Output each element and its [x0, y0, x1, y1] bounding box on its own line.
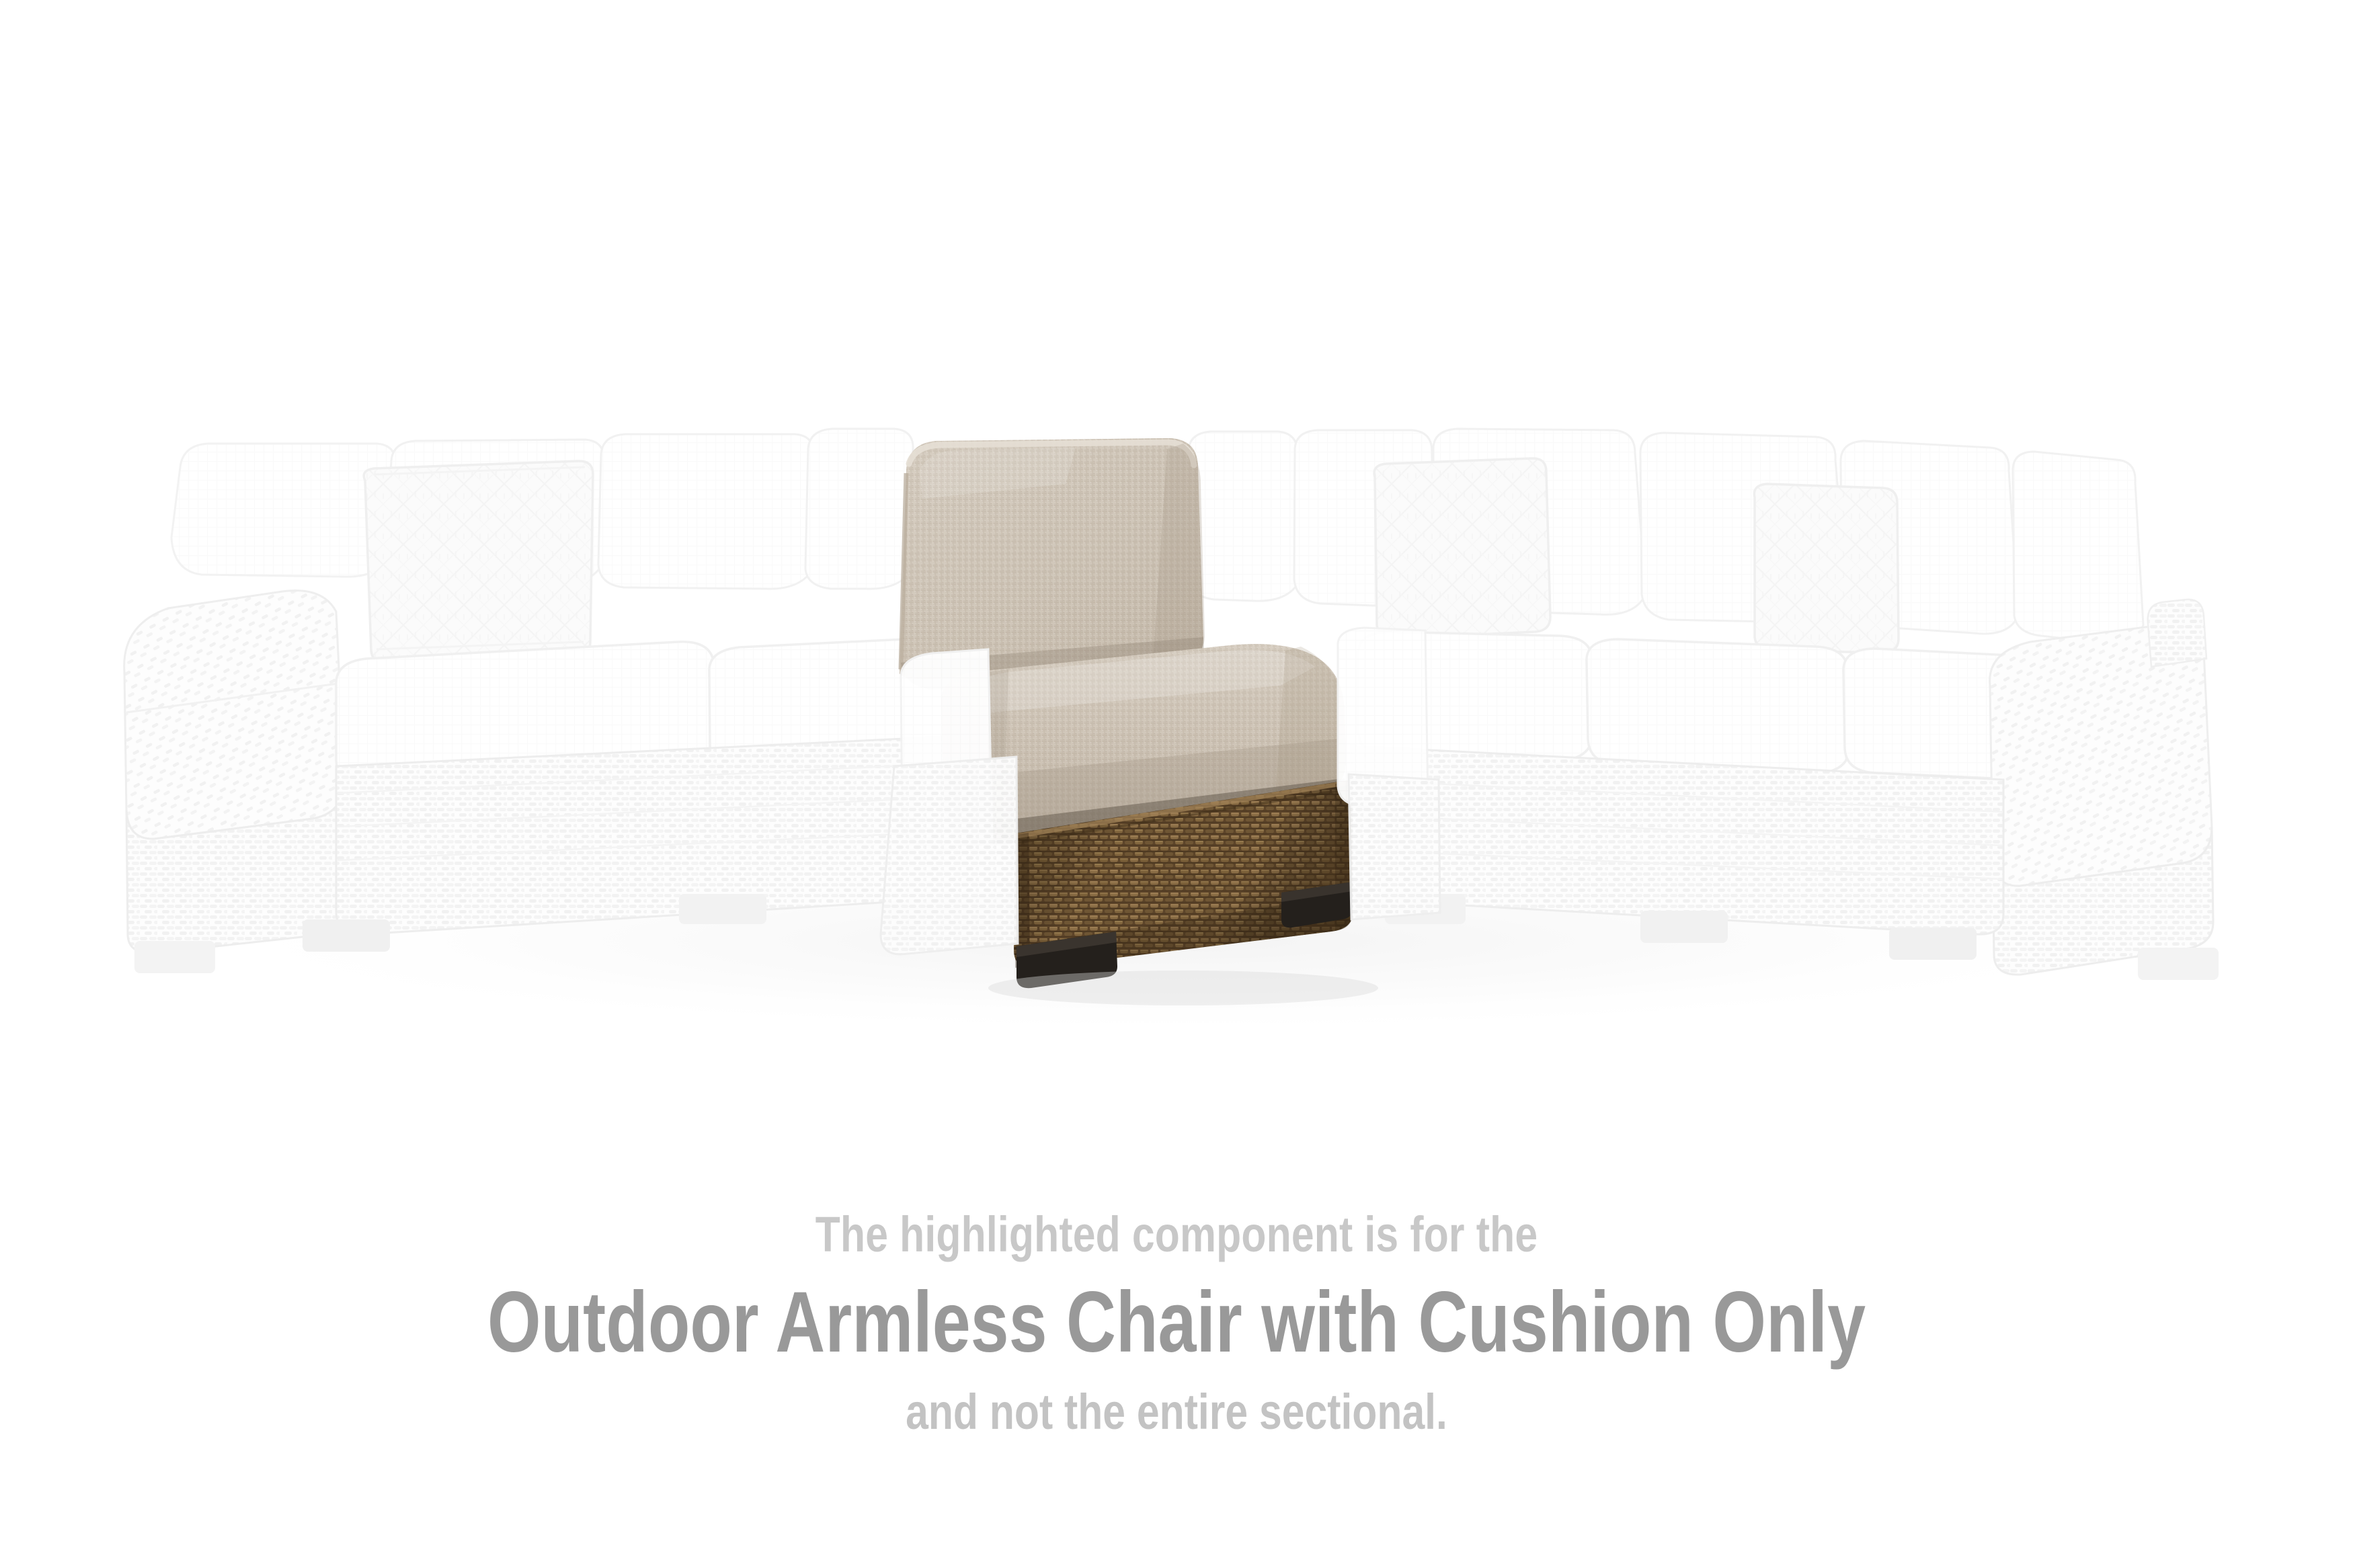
- product-hero-page: The highlighted component is for the Out…: [0, 0, 2353, 1568]
- ghost-back-cushion-l4: [805, 429, 913, 589]
- caption-line-main: Outdoor Armless Chair with Cushion Only: [235, 1277, 2118, 1368]
- ghost-foot-left-1: [134, 941, 215, 973]
- product-image: [0, 0, 2353, 1183]
- ghost-accent-pillow-left: [364, 461, 593, 664]
- caption-line-bottom: and not the entire sectional.: [212, 1387, 2141, 1437]
- ghost-seat-cushion-r1: [1587, 639, 1850, 773]
- ghost-right-arm: [1990, 625, 2212, 886]
- ghost-base-overlap-right: [1349, 774, 1440, 919]
- ghost-foot-right-2: [1640, 911, 1728, 943]
- ghost-foot-left-3: [679, 894, 766, 924]
- ghost-foot-right-3: [1889, 927, 1977, 960]
- caption-line-top: The highlighted component is for the: [212, 1210, 2141, 1260]
- ghost-back-cushion-corner: [1189, 431, 1300, 601]
- ghost-left-arm: [124, 591, 344, 839]
- ghost-back-cushion-r5: [2013, 452, 2143, 643]
- ghost-back-cushion-l3: [598, 434, 813, 589]
- ghost-base-overlap-left: [881, 757, 1018, 954]
- ghost-foot-left-2: [303, 919, 390, 952]
- highlight-contact-shadow: [988, 971, 1378, 1005]
- caption-block: The highlighted component is for the Out…: [0, 1210, 2353, 1437]
- ghost-foot-right-4: [2138, 948, 2219, 980]
- ghost-back-cushion-l1: [171, 444, 395, 577]
- ghost-accent-pillow-right: [1754, 484, 1899, 653]
- ghost-accent-pillow-corner: [1374, 458, 1550, 638]
- ghost-arm-nub: [2148, 600, 2206, 667]
